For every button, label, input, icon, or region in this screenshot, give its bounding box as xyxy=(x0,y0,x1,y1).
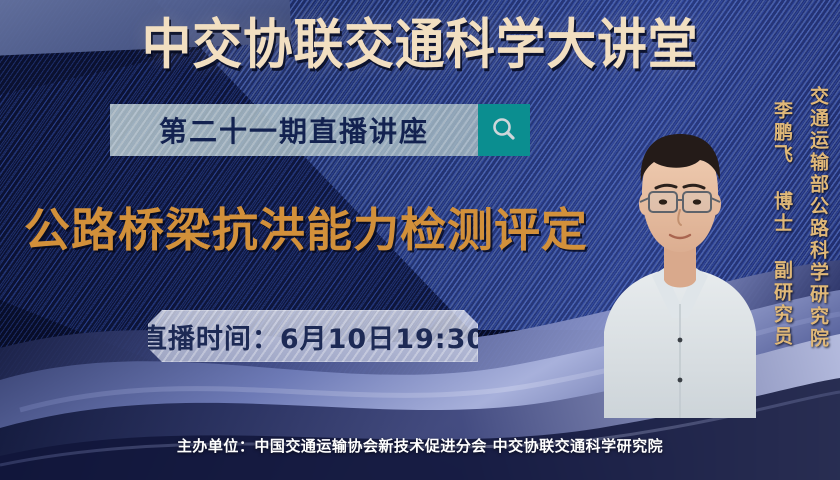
subtitle-bar: 第二十一期直播讲座 xyxy=(110,104,530,156)
speaker-label: 李鹏飞 博士 副研究员 xyxy=(769,100,796,348)
live-time-badge: 直播时间：6月10日19:30 xyxy=(148,310,478,362)
speaker-portrait xyxy=(604,118,756,418)
search-icon xyxy=(489,115,519,145)
live-time-label: 直播时间：6月10日19:30 xyxy=(148,317,478,356)
lecture-title: 公路桥梁抗洪能力检测评定 xyxy=(24,204,588,256)
webinar-poster: 中交协联交通科学大讲堂 第二十一期直播讲座 公路桥梁抗洪能力检测评定 直播时间：… xyxy=(0,0,840,480)
page-title: 中交协联交通科学大讲堂 xyxy=(34,16,807,74)
subtitle-label: 第二十一期直播讲座 xyxy=(159,110,429,150)
footer-bar: 主办单位：中国交通运输协会新技术促进分会 中交协联交通科学研究院 xyxy=(0,410,840,480)
search-button[interactable] xyxy=(478,104,530,156)
institute-label: 交通运输部公路科学研究院 xyxy=(805,86,832,350)
subtitle-bar-fill: 第二十一期直播讲座 xyxy=(110,104,478,156)
organizer-label: 主办单位：中国交通运输协会新技术促进分会 中交协联交通科学研究院 xyxy=(177,435,663,456)
